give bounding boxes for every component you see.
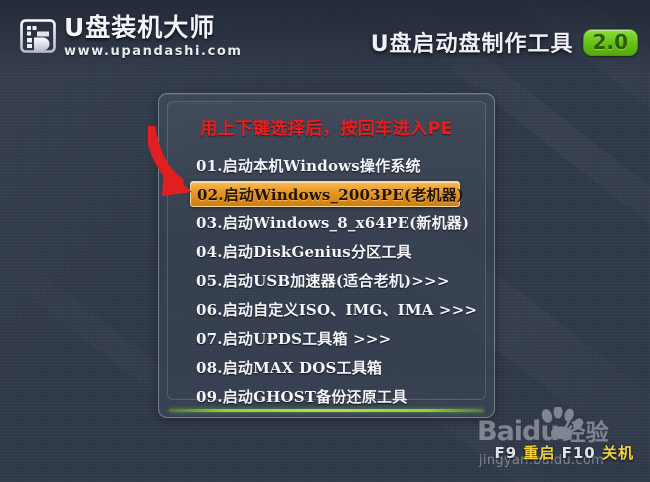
- boot-menu-item-label: 03.启动Windows_8_x64PE(新机器): [196, 212, 469, 233]
- boot-menu-item[interactable]: 04.启动DiskGenius分区工具: [159, 238, 494, 265]
- instruction-text: 用上下键选择后，按回车进入PE: [159, 114, 494, 139]
- brand-logo: U盘装机大师 www.upandashi.com: [18, 14, 243, 58]
- version-badge: 2.0: [583, 29, 638, 56]
- baidu-paw-icon: [539, 407, 583, 443]
- boot-menu-item-label: 04.启动DiskGenius分区工具: [196, 241, 412, 262]
- watermark-brand: Baidu: [477, 418, 559, 445]
- brand-text-block: U盘装机大师 www.upandashi.com: [64, 14, 243, 58]
- key-f9-label: F9: [494, 444, 517, 462]
- boot-menu-screen: U盘装机大师 www.upandashi.com U盘启动盘制作工具 2.0 用…: [0, 0, 650, 482]
- header-bar: U盘装机大师 www.upandashi.com U盘启动盘制作工具 2.0: [0, 0, 650, 75]
- usb-drive-icon: [18, 16, 58, 56]
- product-title: U盘启动盘制作工具: [371, 26, 574, 58]
- boot-menu-item[interactable]: 06.启动自定义ISO、IMG、IMA >>>: [159, 296, 494, 323]
- boot-menu-item[interactable]: 07.启动UPDS工具箱 >>>: [159, 325, 494, 352]
- key-f9-action: 重启: [523, 444, 555, 462]
- boot-menu-list[interactable]: 01.启动本机Windows操作系统02.启动Windows_2003PE(老机…: [159, 152, 494, 412]
- boot-menu-item[interactable]: 01.启动本机Windows操作系统: [159, 152, 494, 179]
- function-key-hints: F9 重启 F10 关机: [494, 442, 634, 463]
- boot-menu-item[interactable]: 09.启动GHOST备份还原工具: [159, 383, 494, 410]
- boot-menu-item-label: 05.启动USB加速器(适合老机)>>>: [196, 270, 450, 291]
- watermark-title-row: Baidu 经验: [477, 418, 609, 445]
- boot-menu-item-label: 02.启动Windows_2003PE(老机器): [197, 184, 464, 205]
- accent-progress-bar: [169, 409, 484, 412]
- brand-title: U盘装机大师: [64, 15, 243, 40]
- boot-menu-item[interactable]: 05.启动USB加速器(适合老机)>>>: [159, 267, 494, 294]
- key-f10-label: F10: [562, 444, 596, 462]
- boot-menu-item[interactable]: 02.启动Windows_2003PE(老机器): [190, 181, 460, 207]
- boot-menu-item-label: 06.启动自定义ISO、IMG、IMA >>>: [196, 299, 477, 320]
- brand-url: www.upandashi.com: [64, 45, 243, 58]
- boot-menu-item[interactable]: 03.启动Windows_8_x64PE(新机器): [159, 209, 494, 236]
- boot-menu-item-label: 09.启动GHOST备份还原工具: [196, 386, 407, 407]
- boot-menu-item-label: 01.启动本机Windows操作系统: [196, 155, 421, 176]
- boot-menu-panel: 用上下键选择后，按回车进入PE 01.启动本机Windows操作系统02.启动W…: [158, 93, 495, 418]
- product-title-block: U盘启动盘制作工具 2.0: [371, 26, 638, 58]
- boot-menu-item[interactable]: 08.启动MAX DOS工具箱: [159, 354, 494, 381]
- boot-menu-item-label: 07.启动UPDS工具箱 >>>: [196, 328, 391, 349]
- boot-menu-item-label: 08.启动MAX DOS工具箱: [196, 357, 382, 378]
- key-f10-action: 关机: [602, 444, 634, 462]
